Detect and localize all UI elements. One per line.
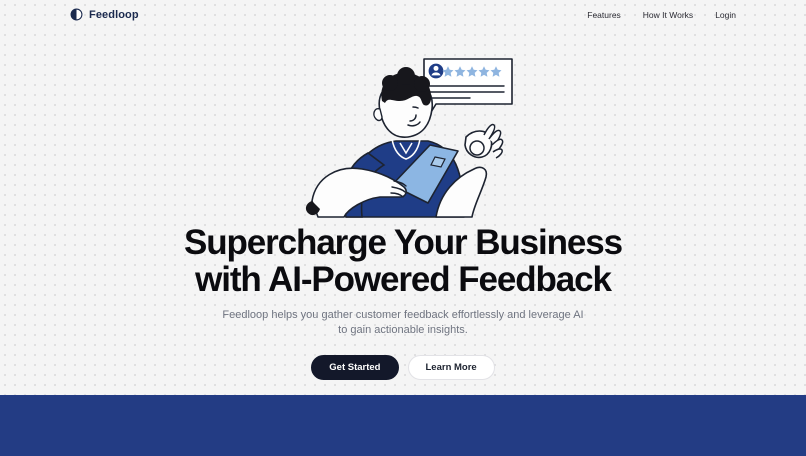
footer-band bbox=[0, 395, 806, 456]
headline-line-1: Supercharge Your Business bbox=[184, 225, 622, 262]
landing-page: Feedloop Features How It Works Login bbox=[0, 0, 806, 456]
nav-link-features[interactable]: Features bbox=[587, 10, 621, 20]
brand-logo[interactable]: Feedloop bbox=[70, 8, 139, 21]
page-subtitle: Feedloop helps you gather customer feedb… bbox=[217, 308, 589, 339]
user-avatar-icon bbox=[429, 64, 444, 79]
cta-button-group: Get Started Learn More bbox=[311, 355, 494, 381]
headline-line-2: with AI-Powered Feedback bbox=[184, 262, 622, 299]
site-header: Feedloop Features How It Works Login bbox=[0, 0, 806, 29]
nav-link-login[interactable]: Login bbox=[715, 10, 736, 20]
person-head bbox=[374, 67, 432, 137]
half-circle-contrast-icon bbox=[70, 8, 83, 21]
learn-more-button[interactable]: Learn More bbox=[408, 355, 495, 381]
hero-section: Supercharge Your Business with AI-Powere… bbox=[0, 29, 806, 395]
review-speech-bubble bbox=[424, 59, 512, 117]
get-started-button[interactable]: Get Started bbox=[311, 355, 398, 381]
ok-hand-gesture bbox=[465, 124, 503, 158]
main-nav: Features How It Works Login bbox=[587, 10, 736, 20]
brand-name: Feedloop bbox=[89, 9, 139, 21]
nav-link-how-it-works[interactable]: How It Works bbox=[643, 10, 693, 20]
page-title: Supercharge Your Business with AI-Powere… bbox=[184, 225, 622, 299]
person-with-tablet-review-illustration bbox=[288, 53, 518, 218]
